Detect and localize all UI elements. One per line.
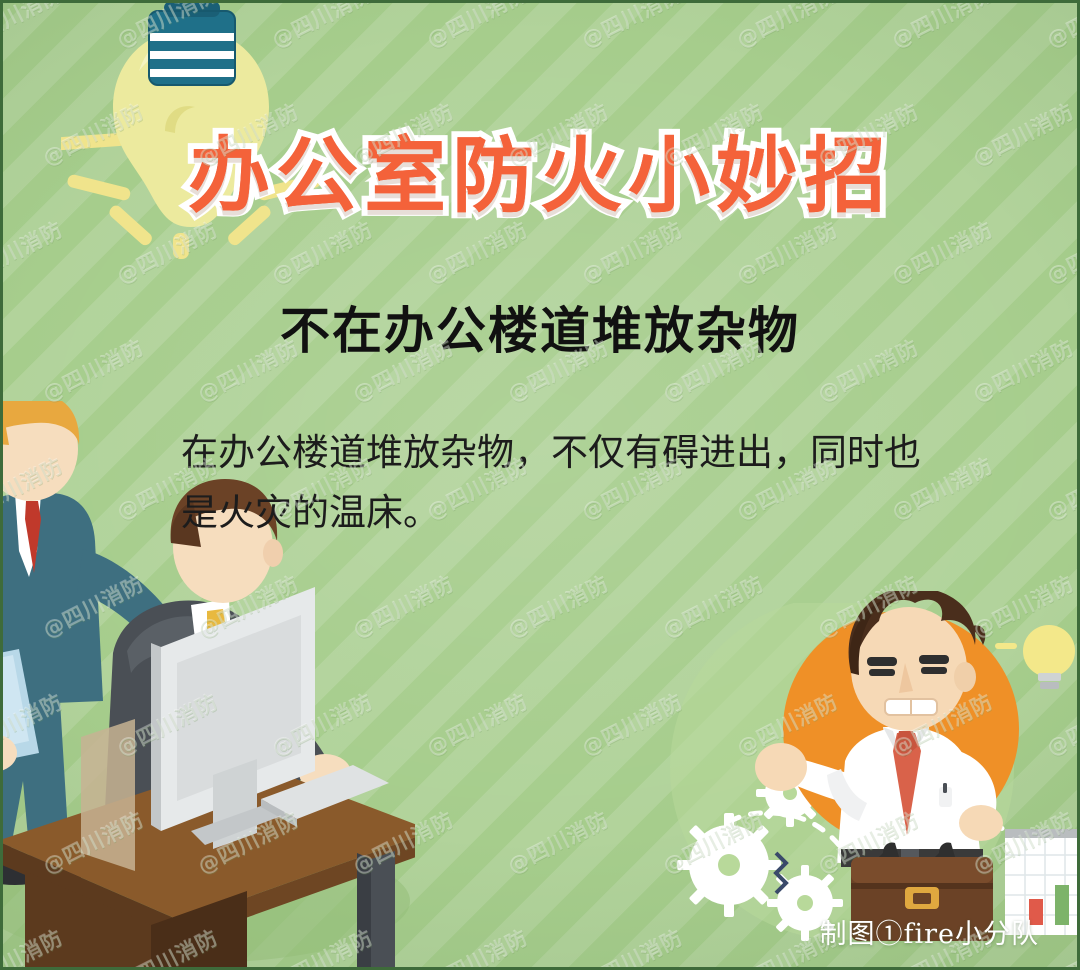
side-cabinet <box>81 719 135 871</box>
credit-text: 制图①fire小分队 <box>819 912 1039 951</box>
body-paragraph: 在办公楼道堆放杂物，不仅有碍进出，同时也是火灾的温床。 <box>181 423 921 543</box>
poster-root: 办公室防火小妙招 办公室防火小妙招 不在办公楼道堆放杂物 在办公楼道堆放杂物，不… <box>0 0 1080 970</box>
page-title-outline: 办公室防火小妙招 <box>3 109 1077 228</box>
businessman-illustration <box>733 591 1080 951</box>
fist <box>755 743 807 791</box>
lightbulb-base <box>149 1 235 85</box>
section-subtitle: 不在办公楼道堆放杂物 <box>3 291 1077 363</box>
